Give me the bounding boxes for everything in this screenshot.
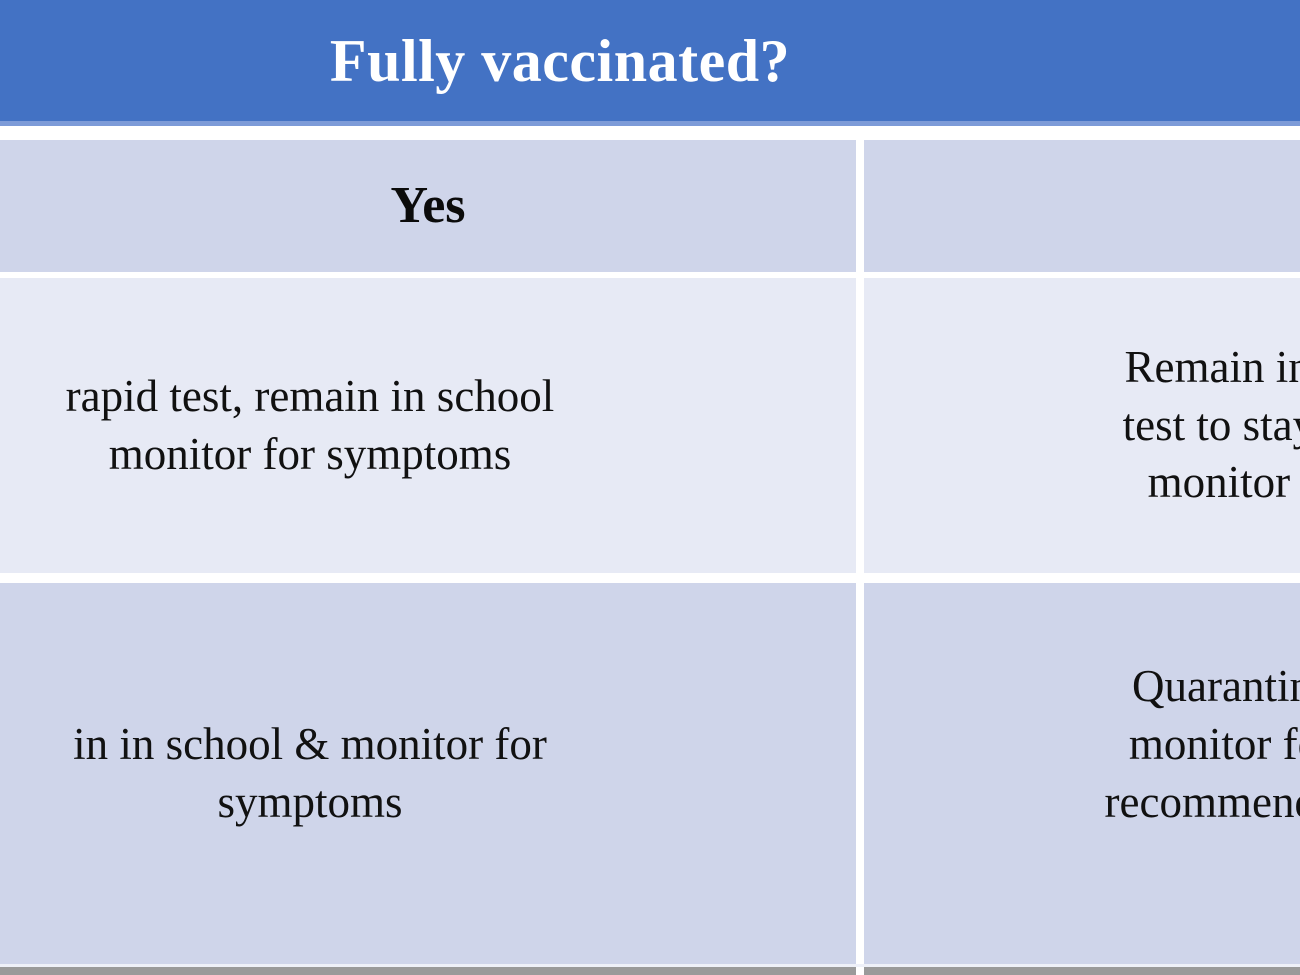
table-body: Yes rapid test, remain in school monitor…	[0, 126, 1300, 964]
cell-yes-contact: rapid test, remain in school monitor for…	[0, 278, 856, 573]
table-row: in in school & monitor for symptoms Quar…	[0, 583, 1300, 964]
bottom-gray-strip	[0, 967, 1300, 975]
table-header-bar: Fully vaccinated?	[0, 0, 1300, 121]
column-header-no	[864, 140, 1300, 272]
column-header-yes-label: Yes	[390, 180, 465, 232]
table-row: Yes	[0, 140, 1300, 272]
table-screenshot: Fully vaccinated? Yes rapid test, remain…	[0, 0, 1300, 975]
cell-no-contact: Remain in s test to stay ( monitor f	[864, 278, 1300, 573]
cell-no-exposure-text: Quarantine monitor for recommended to	[1105, 658, 1300, 888]
cell-no-contact-text: Remain in s test to stay ( monitor f	[1123, 339, 1300, 512]
cell-yes-exposure-text: in in school & monitor for symptoms	[73, 716, 547, 831]
bottom-strip-divider	[856, 967, 864, 975]
cell-no-exposure: Quarantine monitor for recommended to	[864, 583, 1300, 964]
page-title: Fully vaccinated?	[0, 0, 1300, 121]
cell-yes-contact-text: rapid test, remain in school monitor for…	[66, 368, 555, 483]
column-header-yes: Yes	[0, 140, 856, 272]
table-row: rapid test, remain in school monitor for…	[0, 278, 1300, 573]
cell-yes-exposure: in in school & monitor for symptoms	[0, 583, 856, 964]
